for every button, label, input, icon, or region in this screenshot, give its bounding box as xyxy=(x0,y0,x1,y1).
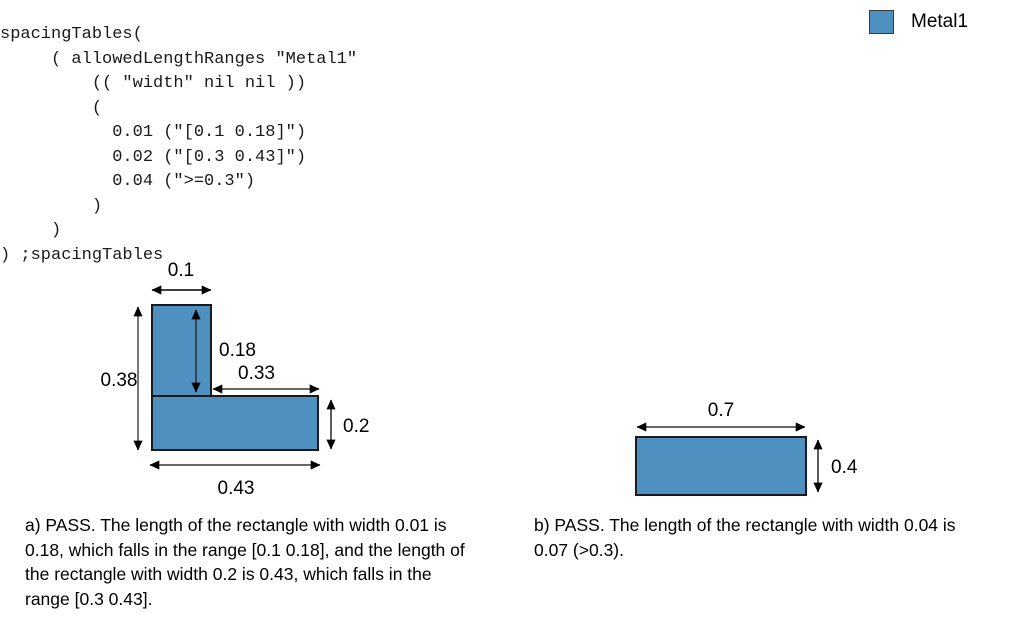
caption-figure-a: a) PASS. The length of the rectangle wit… xyxy=(25,513,470,611)
figure-a-lshape xyxy=(152,305,318,450)
shape-b-rect xyxy=(636,437,806,495)
label-a-top-width: 0.1 xyxy=(168,260,194,281)
shape-a-vertical-limb xyxy=(152,305,211,397)
label-a-upper-length: 0.18 xyxy=(219,340,256,361)
shape-a-horizontal-limb xyxy=(152,396,318,450)
label-a-bottom-height: 0.2 xyxy=(343,416,369,437)
figure-b-rectangle xyxy=(636,437,806,495)
label-b-height: 0.4 xyxy=(831,457,858,478)
caption-figure-b: b) PASS. The length of the rectangle wit… xyxy=(534,513,994,562)
label-b-width: 0.7 xyxy=(708,400,734,421)
label-a-horizontal-span: 0.33 xyxy=(238,363,275,384)
label-a-total-height: 0.38 xyxy=(101,370,138,391)
label-a-bottom-width: 0.43 xyxy=(218,478,255,499)
